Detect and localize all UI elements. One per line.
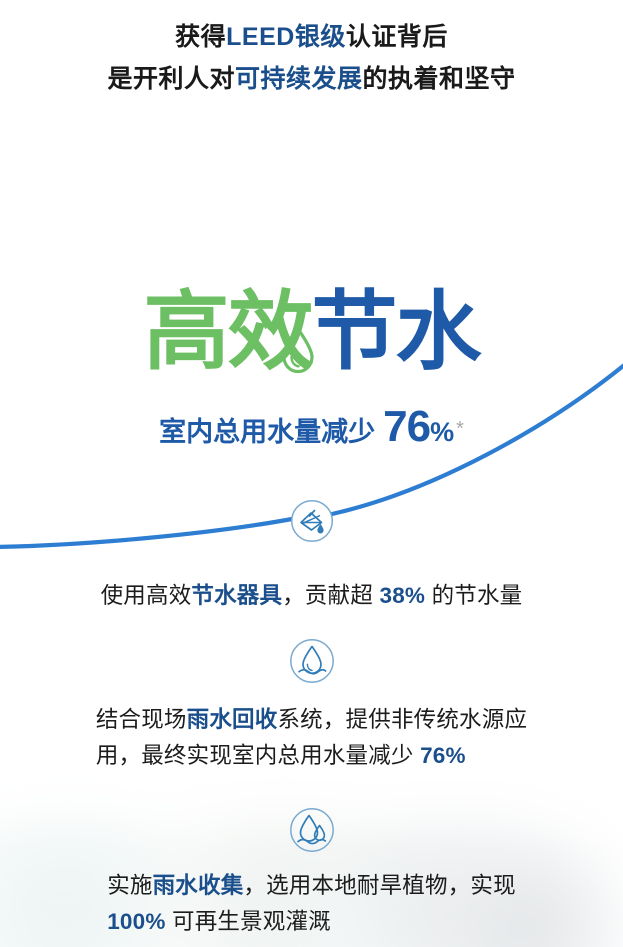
- fact-2-seg-4: 用，最终实现室内总用水量减少: [96, 743, 420, 768]
- fact-2-seg-2: 雨水回收: [187, 707, 278, 732]
- fact-3-line-2: 100% 可再生景观灌溉: [107, 904, 516, 940]
- title-line1-pre: 获得: [175, 23, 226, 51]
- page-title-line-2: 是开利人对可持续发展的执着和坚守: [0, 58, 623, 100]
- decorative-swoosh: [0, 0, 623, 947]
- fact-2-line-2: 用，最终实现室内总用水量减少 76%: [96, 738, 527, 774]
- fact-1-seg-2: 节水器具: [191, 583, 282, 608]
- fact-3-seg-4: 100%: [107, 909, 165, 934]
- hero-subtitle-text: 室内总用水量减少: [159, 417, 375, 447]
- fact-2-seg-5: 76%: [420, 743, 466, 768]
- title-line2-post: 的执着和坚守: [363, 65, 516, 93]
- fact-item-2: 结合现场雨水回收系统，提供非传统水源应 用，最终实现室内总用水量减少 76%: [0, 702, 623, 774]
- fact-3-seg-1: 实施: [107, 873, 152, 898]
- fact-3-block: 实施雨水收集，选用本地耐旱植物，实现 100% 可再生景观灌溉: [107, 868, 516, 940]
- fact-3-seg-5: 可再生景观灌溉: [166, 909, 331, 934]
- fact-item-3: 实施雨水收集，选用本地耐旱植物，实现 100% 可再生景观灌溉: [0, 868, 623, 940]
- fact-3-line-1: 实施雨水收集，选用本地耐旱植物，实现: [107, 868, 516, 904]
- fact-1-block: 使用高效节水器具，贡献超 38% 的节水量: [101, 578, 523, 614]
- hero-wordmark: 高效 节水: [144, 292, 480, 374]
- fact-2-line-1: 结合现场雨水回收系统，提供非传统水源应: [96, 702, 527, 738]
- rainwater-recycle-icon: [0, 638, 623, 689]
- fact-1-seg-3: ，贡献超: [282, 583, 379, 608]
- fact-1-line-1: 使用高效节水器具，贡献超 38% 的节水量: [101, 578, 523, 614]
- fact-1-seg-5: 的节水量: [425, 583, 522, 608]
- hero-word-blue: 节水: [312, 292, 480, 374]
- hero-subtitle: 室内总用水量减少76%*: [0, 402, 623, 452]
- fact-3-seg-3: ，选用本地耐旱植物，实现: [243, 873, 515, 898]
- fact-2-block: 结合现场雨水回收系统，提供非传统水源应 用，最终实现室内总用水量减少 76%: [96, 702, 527, 774]
- page-title-line-1: 获得LEED银级认证背后: [0, 16, 623, 58]
- rainwater-harvest-icon: [0, 807, 623, 858]
- page-title: 获得LEED银级认证背后 是开利人对可持续发展的执着和坚守: [0, 16, 623, 100]
- fact-1-seg-1: 使用高效: [101, 583, 192, 608]
- hero-heading: 高效 节水: [0, 292, 623, 374]
- hero-subtitle-number: 76: [383, 402, 430, 451]
- title-line2-pre: 是开利人对: [107, 65, 235, 93]
- fact-1-seg-4: 38%: [379, 583, 425, 608]
- fact-item-1: 使用高效节水器具，贡献超 38% 的节水量: [0, 578, 623, 614]
- title-line1-accent: LEED银级: [226, 23, 346, 51]
- fact-3-seg-2: 雨水收集: [153, 873, 244, 898]
- footnote-asterisk: *: [456, 418, 464, 440]
- title-line1-post: 认证背后: [346, 23, 448, 51]
- title-line2-accent: 可持续发展: [235, 65, 363, 93]
- hero-subtitle-percent: %: [430, 417, 454, 447]
- poster-root: 获得LEED银级认证背后 是开利人对可持续发展的执着和坚守 高效 节水 室内总用…: [0, 0, 623, 947]
- faucet-water-saving-icon: [0, 499, 623, 548]
- fact-2-seg-1: 结合现场: [96, 707, 187, 732]
- fact-2-seg-3: 系统，提供非传统水源应: [277, 707, 527, 732]
